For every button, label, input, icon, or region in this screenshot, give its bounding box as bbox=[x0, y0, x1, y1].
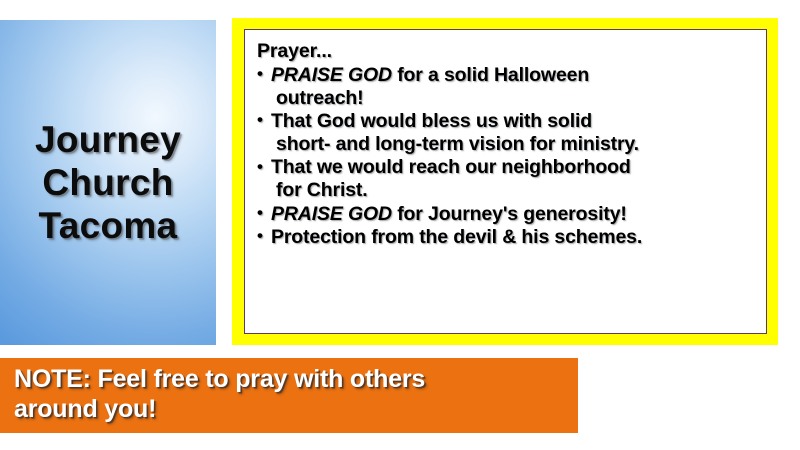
church-title-text: Journey Church Tacoma bbox=[0, 118, 216, 248]
prayer-bullet-continuation: short- and long-term vision for ministry… bbox=[271, 133, 756, 156]
prayer-bullet-text: Protection from the devil & his schemes. bbox=[271, 226, 642, 248]
prayer-bullet-text: That we would reach our neighborhood bbox=[271, 156, 631, 178]
prayer-heading: Prayer... bbox=[257, 40, 756, 63]
note-banner: NOTE: Feel free to pray with others arou… bbox=[0, 358, 578, 433]
prayer-bullet-emphasis: PRAISE GOD bbox=[271, 203, 392, 225]
prayer-bullet-continuation: for Christ. bbox=[271, 179, 756, 202]
prayer-bullet-item: Protection from the devil & his schemes. bbox=[257, 226, 756, 249]
church-title-panel: Journey Church Tacoma bbox=[0, 20, 216, 345]
note-banner-text: NOTE: Feel free to pray with others arou… bbox=[14, 364, 425, 424]
prayer-bullet-emphasis: PRAISE GOD bbox=[271, 64, 392, 86]
prayer-bullet-item: That we would reach our neighborhood for… bbox=[257, 156, 756, 202]
prayer-bullet-text: for a solid Halloween bbox=[392, 64, 589, 86]
prayer-bullet-item: PRAISE GOD for Journey's generosity! bbox=[257, 203, 756, 226]
prayer-bullet-continuation: outreach! bbox=[271, 87, 756, 110]
prayer-bullet-list: PRAISE GOD for a solid Halloween outreac… bbox=[257, 64, 756, 249]
prayer-bullet-item: That God would bless us with solid short… bbox=[257, 110, 756, 156]
slide-canvas: Journey Church Tacoma Prayer... PRAISE G… bbox=[0, 0, 800, 450]
prayer-request-box: Prayer... PRAISE GOD for a solid Hallowe… bbox=[232, 18, 778, 345]
prayer-bullet-item: PRAISE GOD for a solid Halloween outreac… bbox=[257, 64, 756, 110]
prayer-bullet-text: for Journey's generosity! bbox=[392, 203, 627, 225]
prayer-box-inner: Prayer... PRAISE GOD for a solid Hallowe… bbox=[244, 29, 767, 334]
prayer-bullet-text: That God would bless us with solid bbox=[271, 110, 592, 132]
